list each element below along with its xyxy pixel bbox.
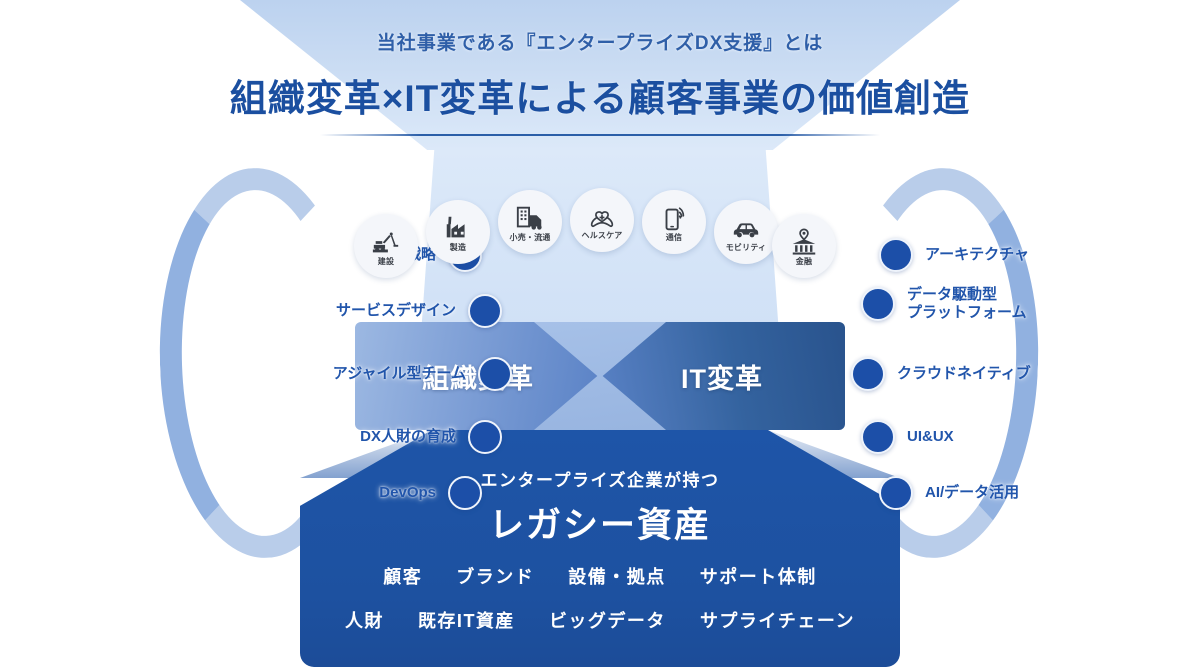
node-dot-icon	[861, 420, 895, 454]
industry-item-telecom[interactable]: 通信	[642, 190, 706, 254]
healthcare-hands-heart-icon	[587, 201, 617, 231]
keyword-chip: 顧客	[383, 563, 422, 589]
car-icon	[731, 213, 761, 243]
list-item[interactable]: アーキテクチャ	[879, 238, 1029, 272]
heading-block: 当社事業である『エンタープライズDX支援』とは 組織変革×IT変革による顧客事業…	[0, 28, 1200, 136]
pillar-left-label: サービスデザイン	[336, 302, 456, 320]
list-item[interactable]: クラウドネイティブ	[851, 357, 1031, 391]
industry-item-finance[interactable]: 金融	[772, 214, 836, 278]
industry-item-construction[interactable]: 建設	[354, 214, 418, 278]
node-dot-icon	[861, 287, 895, 321]
keyword-chip: 設備・拠点	[568, 563, 666, 589]
excavator-icon	[371, 227, 401, 257]
node-dot-icon	[851, 357, 885, 391]
node-dot-icon	[879, 238, 913, 272]
keyword-chip: ブランド	[456, 563, 534, 589]
industry-item-healthcare[interactable]: ヘルスケア	[570, 188, 634, 252]
keyword-chip: 既存IT資産	[418, 607, 515, 633]
list-item[interactable]: アジャイル型チーム	[333, 357, 512, 391]
heading-subtitle: 当社事業である『エンタープライズDX支援』とは	[0, 28, 1200, 55]
keyword-chip: サポート体制	[700, 563, 817, 589]
pillar-left-label: DX人財の育成	[360, 428, 456, 446]
industry-label: 小売・流通	[510, 234, 551, 242]
industry-label: 通信	[666, 234, 682, 242]
keyword-chip: 人財	[345, 607, 384, 633]
industry-item-manufacturing[interactable]: 製造	[426, 200, 490, 264]
legacy-keywords: 顧客 ブランド 設備・拠点 サポート体制 人財 既存IT資産 ビッグデータ サプ…	[0, 563, 1200, 633]
industry-label: モビリティ	[726, 244, 767, 252]
pillar-right-label: データ駆動型 プラットフォーム	[907, 286, 1027, 322]
factory-icon	[443, 213, 473, 243]
industry-label: 金融	[796, 258, 812, 266]
legacy-keywords-row-1: 顧客 ブランド 設備・拠点 サポート体制	[0, 563, 1200, 589]
list-item[interactable]: DX人財の育成	[360, 420, 502, 454]
keyword-chip: ビッグデータ	[549, 607, 666, 633]
infographic-canvas: 当社事業である『エンタープライズDX支援』とは 組織変革×IT変革による顧客事業…	[0, 0, 1200, 667]
industry-label: ヘルスケア	[582, 232, 623, 240]
it-transformation-label: IT変革	[627, 322, 817, 430]
pillar-right-label: アーキテクチャ	[925, 246, 1029, 264]
industry-item-mobility[interactable]: モビリティ	[714, 200, 778, 264]
legacy-assets-block: エンタープライズ企業が持つ レガシー資産	[0, 466, 1200, 548]
node-dot-icon	[478, 357, 512, 391]
legacy-keywords-row-2: 人財 既存IT資産 ビッグデータ サプライチェーン	[0, 607, 1200, 633]
industry-label: 建設	[378, 258, 394, 266]
retail-truck-icon	[515, 203, 545, 233]
node-dot-icon	[468, 294, 502, 328]
bank-icon	[789, 227, 819, 257]
keyword-chip: サプライチェーン	[700, 607, 855, 633]
pillar-right-label: UI&UX	[907, 428, 954, 446]
industry-label: 製造	[450, 244, 466, 252]
pillar-left-label: アジャイル型チーム	[333, 365, 466, 383]
smartphone-signal-icon	[659, 203, 689, 233]
legacy-title: レガシー資産	[0, 497, 1200, 548]
industry-item-retail-distribution[interactable]: 小売・流通	[498, 190, 562, 254]
list-item[interactable]: UI&UX	[861, 420, 954, 454]
industry-icon-row: 建設 製造 小売・流通 ヘルスケア 通信	[352, 188, 852, 282]
heading-underline	[320, 134, 880, 136]
legacy-subtitle: エンタープライズ企業が持つ	[0, 466, 1200, 491]
node-dot-icon	[468, 420, 502, 454]
list-item[interactable]: サービスデザイン	[336, 294, 502, 328]
pillar-right-label: クラウドネイティブ	[897, 365, 1031, 383]
heading-title: 組織変革×IT変革による顧客事業の価値創造	[0, 68, 1200, 122]
list-item[interactable]: データ駆動型 プラットフォーム	[861, 286, 1027, 322]
